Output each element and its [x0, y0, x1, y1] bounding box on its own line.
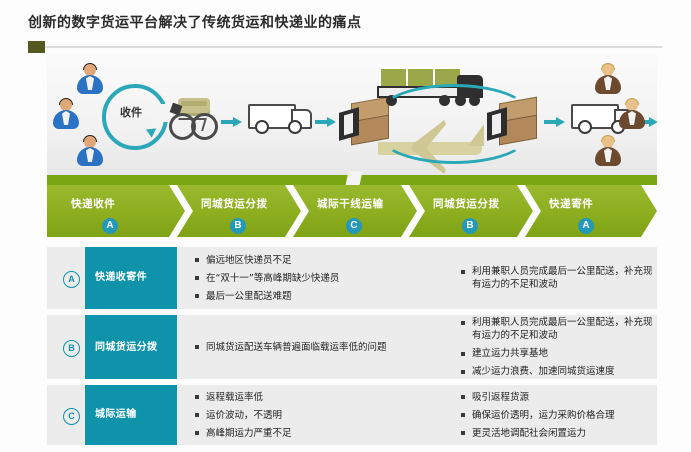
solutions-cell: 利用兼职人员完成最后一公里配送，补充现有运力的不足和波动	[459, 247, 655, 309]
arrow-icon	[649, 117, 657, 127]
arrow-icon	[544, 120, 556, 124]
chevron-step-2-badge: B	[230, 218, 246, 234]
table-row-badge: C	[63, 408, 80, 425]
list-item: 吸引返程货源	[459, 391, 655, 404]
person-icon	[77, 136, 103, 166]
slide-canvas: 创新的数字货运平台解决了传统货运和快递业的痛点 收件	[0, 0, 691, 452]
list-item: 同城货运配送车辆普遍面临载运率低的问题	[193, 341, 443, 354]
solutions-cell: 利用兼职人员完成最后一公里配送，补充现有运力的不足和波动 建立运力共享基地 减少…	[459, 315, 655, 379]
table-row-badge: A	[63, 271, 80, 288]
cargo-box-icon	[487, 98, 537, 142]
table-row-label: 快递收寄件	[85, 247, 177, 309]
list-item: 减少运力浪费、加速同城货运速度	[459, 365, 655, 378]
list-item: 确保运价透明，运力采购价格合理	[459, 409, 655, 422]
person-icon	[53, 99, 79, 129]
chevron-step-2-label: 同城货运分拨	[201, 196, 268, 211]
chevron-step-3-label: 城际干线运输	[317, 196, 384, 211]
process-illustration: 收件	[47, 54, 657, 185]
chevron-step-3-badge: C	[346, 218, 362, 234]
pain-points-cell: 同城货运配送车辆普遍面临载运率低的问题	[193, 315, 443, 379]
table-row: B 同城货运分拨 同城货运配送车辆普遍面临载运率低的问题 利用兼职人员完成最后一…	[47, 315, 657, 379]
arrow-icon	[327, 117, 336, 127]
arrow-icon	[221, 120, 233, 124]
list-item: 最后一公里配送难题	[193, 290, 443, 303]
table-row-label: 城际运输	[85, 385, 177, 445]
bicycle-courier-icon	[169, 98, 215, 140]
pain-points-cell: 返程载运率低 运价波动，不透明 高峰期运力严重不足	[193, 385, 443, 445]
title-divider	[28, 46, 662, 48]
list-item: 更灵活地调配社会闲置运力	[459, 427, 655, 440]
chevron-step-5-badge: A	[578, 218, 594, 234]
delivery-van-icon	[248, 104, 310, 134]
list-item: 利用兼职人员完成最后一公里配送，补充现有运力的不足和波动	[459, 265, 655, 291]
person-icon	[595, 64, 621, 94]
pain-points-cell: 偏远地区快递员不足 在“双十一”等高峰期缺少快递员 最后一公里配送难题	[193, 247, 443, 309]
table-row-label: 同城货运分拨	[85, 315, 177, 379]
page-title: 创新的数字货运平台解决了传统货运和快递业的痛点	[28, 12, 362, 32]
list-item: 在“双十一”等高峰期缺少快递员	[193, 272, 443, 285]
chevron-step-1-badge: A	[102, 218, 118, 234]
table-row: C 城际运输 返程载运率低 运价波动，不透明 高峰期运力严重不足 吸引返程货源 …	[47, 385, 657, 445]
person-icon	[77, 64, 103, 94]
table-row-badge: B	[63, 340, 80, 357]
pain-point-table: A 快递收寄件 偏远地区快递员不足 在“双十一”等高峰期缺少快递员 最后一公里配…	[47, 247, 657, 445]
list-item: 高峰期运力严重不足	[193, 427, 443, 440]
chevron-step-4-label: 同城货运分拨	[433, 196, 500, 211]
list-item: 运价波动，不透明	[193, 409, 443, 422]
arrow-icon	[315, 120, 327, 124]
list-item: 建立运力共享基地	[459, 347, 655, 360]
person-icon	[619, 99, 645, 129]
solutions-cell: 吸引返程货源 确保运价透明，运力采购价格合理 更灵活地调配社会闲置运力	[459, 385, 655, 445]
list-item: 返程载运率低	[193, 391, 443, 404]
chevron-step-1-label: 快递收件	[71, 196, 115, 211]
arrow-icon	[556, 117, 565, 127]
chevron-step-4-badge: B	[462, 218, 478, 234]
process-chevron-band: 快递收件 A 同城货运分拨 B 城际干线运输 C 同城货运分拨 B 快递寄件 A	[47, 185, 657, 237]
list-item: 偏远地区快递员不足	[193, 254, 443, 267]
ground-strip	[47, 175, 657, 185]
title-accent-square	[28, 41, 45, 53]
person-icon	[595, 136, 621, 166]
list-item: 利用兼职人员完成最后一公里配送，补充现有运力的不足和波动	[459, 316, 655, 342]
table-row: A 快递收寄件 偏远地区快递员不足 在“双十一”等高峰期缺少快递员 最后一公里配…	[47, 247, 657, 309]
arrow-icon	[233, 117, 242, 127]
chevron-step-5-label: 快递寄件	[549, 196, 593, 211]
